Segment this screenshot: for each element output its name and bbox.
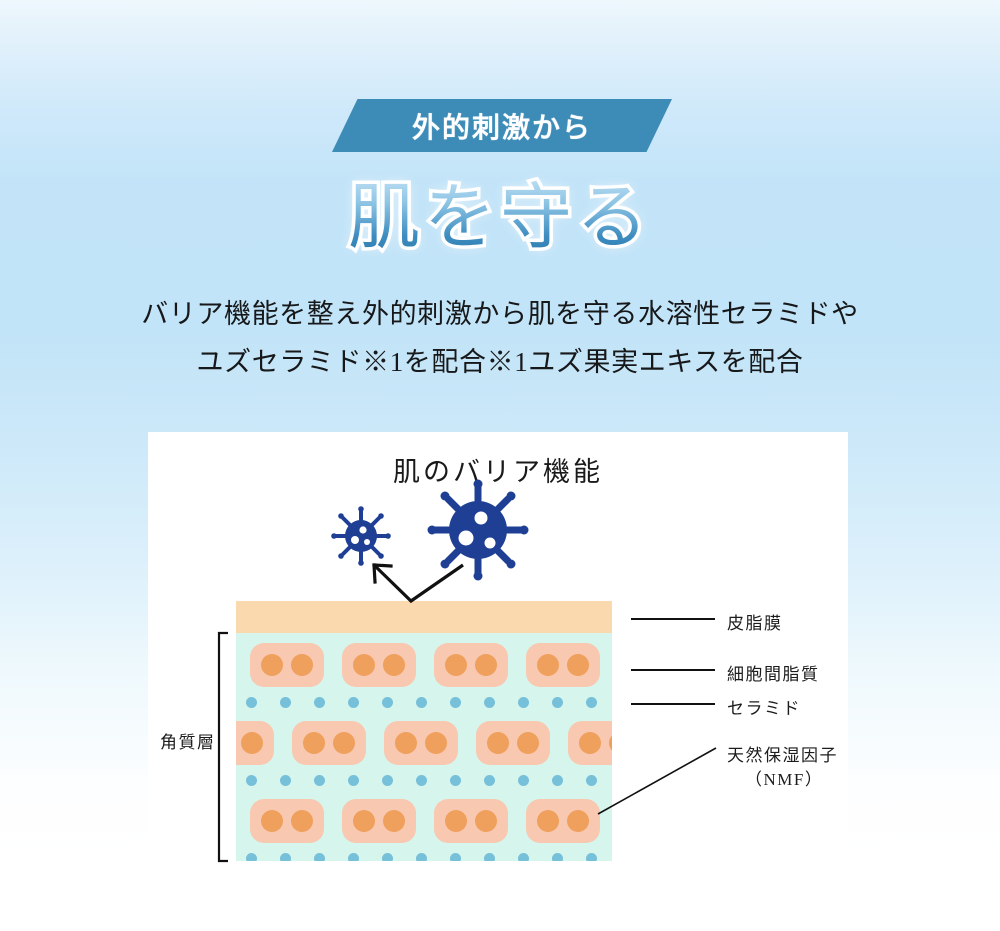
nmf-dot	[395, 732, 417, 754]
label-ceramide: セラミド	[727, 694, 801, 719]
ceramide-dot	[314, 775, 325, 786]
corneocyte-cell	[526, 799, 600, 843]
corneocyte-cell	[526, 643, 600, 687]
label-nmf: 天然保湿因子	[727, 741, 838, 766]
page-title: 肌を守る 肌を守る	[348, 172, 652, 264]
corneocyte-cell	[292, 721, 366, 765]
nmf-dot	[303, 732, 325, 754]
ceramide-dot	[484, 697, 495, 708]
ceramide-dot	[450, 775, 461, 786]
nmf-dot	[475, 810, 497, 832]
ceramide-dot	[246, 775, 257, 786]
corneocyte-cell	[384, 721, 458, 765]
corneocyte-cell	[434, 643, 508, 687]
nmf-dot	[537, 810, 559, 832]
corneocyte-cell	[342, 643, 416, 687]
ceramide-dot	[348, 853, 359, 862]
nmf-dot	[333, 732, 355, 754]
nmf-dot	[579, 732, 601, 754]
ceramide-dot	[518, 853, 529, 862]
ceramide-row	[236, 852, 612, 861]
ceramide-dot	[280, 853, 291, 862]
ceramide-dot	[382, 697, 393, 708]
nmf-dot	[353, 810, 375, 832]
ceramide-dot	[450, 853, 461, 862]
ceramide-dot	[416, 853, 427, 862]
ceramide-dot	[416, 775, 427, 786]
ceramide-dot	[484, 853, 495, 862]
page-root: 外的刺激から 肌を守る 肌を守る バリア機能を整え外的刺激から肌を守る水溶性セラ…	[0, 0, 1000, 931]
label-stratum-corneum: 角質層	[160, 728, 216, 753]
nmf-dot	[261, 810, 283, 832]
nmf-dot	[567, 810, 589, 832]
diagram-card: 肌のバリア機能	[148, 432, 848, 876]
label-nmf-abbrev: （NMF）	[745, 767, 823, 793]
nmf-dot	[241, 732, 263, 754]
nmf-dot	[475, 654, 497, 676]
ceramide-row	[236, 696, 612, 708]
ceramide-dot	[552, 853, 563, 862]
nmf-dot	[537, 654, 559, 676]
headline-wrapper: 肌を守る 肌を守る	[0, 172, 1000, 264]
lede-text: バリア機能を整え外的刺激から肌を守る水溶性セラミドや ユズセラミド※1を配合※1…	[0, 290, 1000, 386]
nmf-dot	[425, 732, 447, 754]
ceramide-dot	[280, 775, 291, 786]
sebum-layer	[236, 601, 612, 633]
ceramide-dot	[314, 853, 325, 862]
corneocyte-cell	[250, 799, 324, 843]
label-intercellular-lipid: 細胞間脂質	[727, 660, 820, 685]
corneocyte-cell	[236, 721, 274, 765]
nmf-dot	[517, 732, 539, 754]
nmf-dot	[383, 810, 405, 832]
ceramide-dot	[484, 775, 495, 786]
ceramide-dot	[552, 697, 563, 708]
ceramide-dot	[586, 697, 597, 708]
skin-cross-section	[236, 601, 612, 861]
corneocyte-cell	[434, 799, 508, 843]
section-banner: 外的刺激から	[332, 99, 672, 152]
ceramide-dot	[246, 697, 257, 708]
nmf-dot	[487, 732, 509, 754]
corneocyte-cell	[568, 721, 612, 765]
ceramide-dot	[246, 853, 257, 862]
nmf-dot	[353, 654, 375, 676]
diagram-title: 肌のバリア機能	[148, 450, 848, 489]
corneocyte-cell	[342, 799, 416, 843]
nmf-dot	[609, 732, 612, 754]
nmf-dot	[291, 810, 313, 832]
nmf-dot	[567, 654, 589, 676]
ceramide-dot	[586, 775, 597, 786]
corneocyte-row	[236, 643, 612, 687]
page-title-fill: 肌を守る	[348, 178, 652, 258]
corneocyte-row	[236, 799, 612, 843]
label-sebum-film: 皮脂膜	[727, 609, 783, 634]
ceramide-dot	[416, 697, 427, 708]
ceramide-row	[236, 774, 612, 786]
nmf-dot	[261, 654, 283, 676]
lede-line-1: バリア機能を整え外的刺激から肌を守る水溶性セラミドや	[0, 290, 1000, 338]
ceramide-dot	[382, 853, 393, 862]
corneocyte-row	[236, 721, 612, 765]
ceramide-dot	[348, 697, 359, 708]
ceramide-dot	[518, 697, 529, 708]
corneocyte-cell	[476, 721, 550, 765]
ceramide-dot	[314, 697, 325, 708]
ceramide-dot	[450, 697, 461, 708]
nmf-dot	[291, 654, 313, 676]
nmf-dot	[445, 654, 467, 676]
ceramide-dot	[552, 775, 563, 786]
nmf-dot	[445, 810, 467, 832]
ceramide-dot	[348, 775, 359, 786]
ceramide-dot	[518, 775, 529, 786]
banner-label: 外的刺激から	[332, 99, 672, 152]
ceramide-dot	[382, 775, 393, 786]
lede-line-2: ユズセラミド※1を配合※1ユズ果実エキスを配合	[0, 338, 1000, 386]
ceramide-dot	[586, 853, 597, 862]
nmf-dot	[383, 654, 405, 676]
ceramide-dot	[280, 697, 291, 708]
corneocyte-cell	[250, 643, 324, 687]
